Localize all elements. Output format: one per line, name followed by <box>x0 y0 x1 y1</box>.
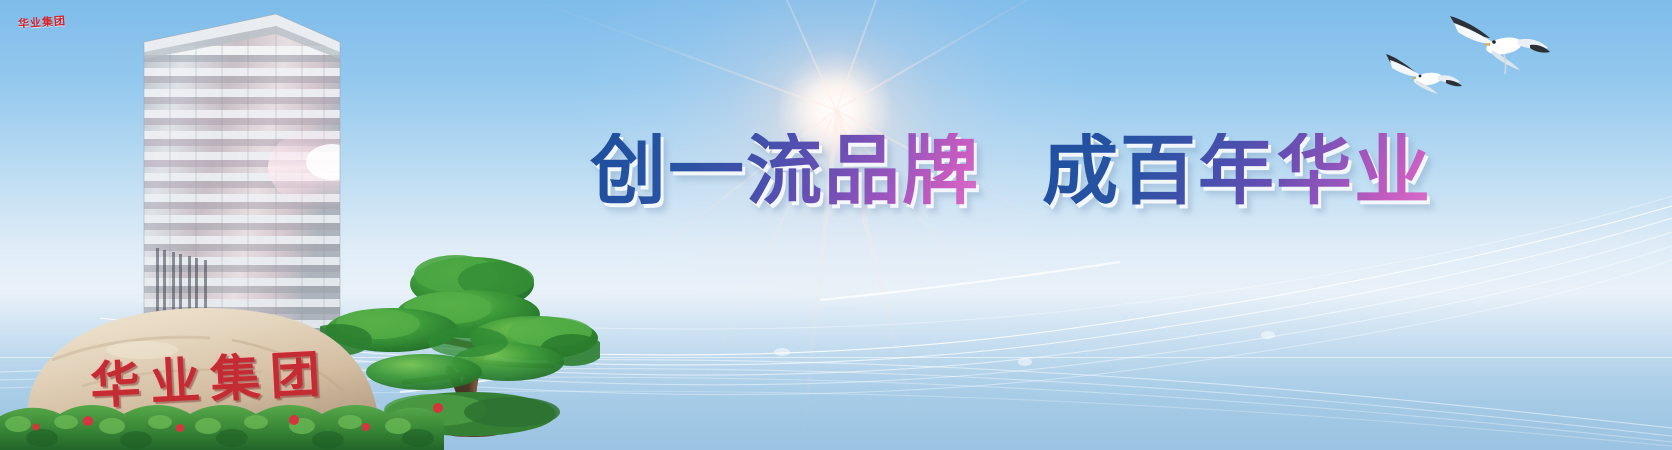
seagull-icon <box>1448 10 1552 80</box>
sun-ray <box>526 0 837 111</box>
slogan-text: 创一流品牌 成百年华业 <box>590 133 1432 209</box>
sun-ray <box>835 0 950 110</box>
sun-ray <box>701 0 837 110</box>
hedge-foliage <box>0 394 444 450</box>
slogan-phrase-1: 创一流品牌 <box>590 133 980 209</box>
building-logo: 华业集团 <box>18 12 67 31</box>
sun-ray <box>836 0 1123 111</box>
company-hero-banner: 华业集团 <box>0 0 1672 450</box>
slogan-phrase-2: 成百年华业 <box>1042 133 1432 209</box>
